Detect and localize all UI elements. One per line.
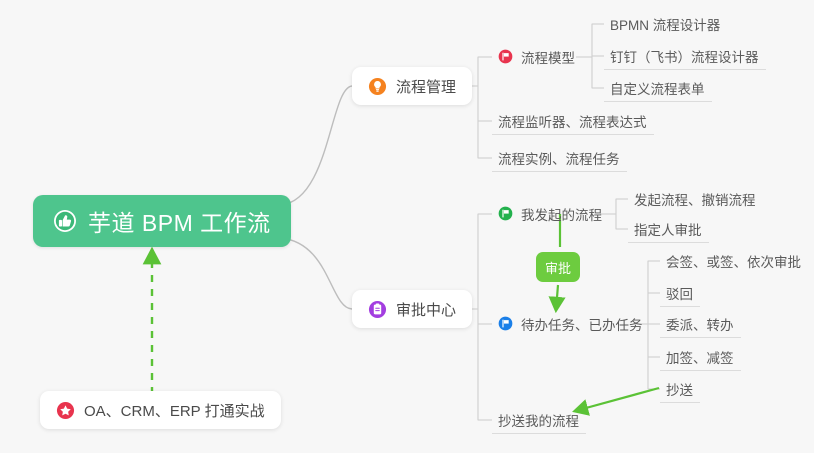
node-label-my-started-processes: 我发起的流程 [521,204,602,224]
root-label: 芋道 BPM 工作流 [88,204,271,238]
node-label-process-instance-task: 流程实例、流程任务 [498,148,620,168]
node-label-carbon-copy: 抄送 [666,379,693,399]
annotation-tag-approval[interactable]: 审批 [536,252,580,282]
node-label-bpmn-designer: BPMN 流程设计器 [610,14,720,34]
node-carbon-copy[interactable]: 抄送 [660,375,700,403]
node-label-dingtalk-feishu-designer: 钉钉（飞书）流程设计器 [610,46,759,66]
flag-icon [498,49,513,64]
node-label-process-model: 流程模型 [521,47,575,67]
node-label-add-remove-sign: 加签、减签 [666,347,734,367]
node-dingtalk-feishu-designer[interactable]: 钉钉（飞书）流程设计器 [604,42,766,70]
annotation-tag-approval-label: 审批 [545,258,571,277]
node-assignee-approval[interactable]: 指定人审批 [628,215,709,243]
branch-node-approval-center[interactable]: 审批中心 [352,290,472,328]
node-label-assignee-approval: 指定人审批 [634,219,702,239]
node-label-process-listener-expression: 流程监听器、流程表达式 [498,111,647,131]
node-label-start-cancel-process: 发起流程、撤销流程 [634,189,756,209]
footer-node-label: OA、CRM、ERP 打通实战 [84,400,265,421]
node-label-custom-process-form: 自定义流程表单 [610,78,705,98]
footer-node-oa-crm-erp[interactable]: OA、CRM、ERP 打通实战 [40,391,281,429]
node-bpmn-designer[interactable]: BPMN 流程设计器 [604,10,727,38]
thumbs-up-icon [53,209,77,233]
annotation-arrow-approval-flow-lower [556,285,558,310]
root-node[interactable]: 芋道 BPM 工作流 [33,195,291,247]
node-custom-process-form[interactable]: 自定义流程表单 [604,74,712,102]
star-icon [56,401,75,420]
node-countersign-or-sequential[interactable]: 会签、或签、依次审批 [660,247,808,275]
node-delegate-transfer[interactable]: 委派、转办 [660,310,741,338]
branch-label-process-management: 流程管理 [396,76,456,97]
node-add-remove-sign[interactable]: 加签、减签 [660,343,741,371]
branch-node-process-management[interactable]: 流程管理 [352,67,472,105]
node-label-cc-to-me-processes: 抄送我的流程 [498,410,579,430]
node-cc-to-me-processes[interactable]: 抄送我的流程 [492,406,586,434]
node-my-started-processes[interactable]: 我发起的流程 [492,200,609,228]
flag-icon [498,316,513,331]
mindmap-canvas: 芋道 BPM 工作流 流程管理 流程模型 流程监听器、流程表达式 流程实例、流程… [0,0,814,453]
node-process-model[interactable]: 流程模型 [492,43,582,71]
node-todo-done-tasks[interactable]: 待办任务、已办任务 [492,310,650,338]
node-start-cancel-process[interactable]: 发起流程、撤销流程 [628,185,763,213]
node-process-instance-task[interactable]: 流程实例、流程任务 [492,144,627,172]
flag-icon [498,206,513,221]
lightbulb-icon [368,77,387,96]
edge-root-to-approval-center [281,238,352,309]
branch-label-approval-center: 审批中心 [396,299,456,320]
node-label-delegate-transfer: 委派、转办 [666,314,734,334]
node-label-countersign-or-sequential: 会签、或签、依次审批 [666,251,801,271]
edge-root-to-process-management [281,86,352,205]
node-label-todo-done-tasks: 待办任务、已办任务 [521,314,643,334]
node-label-reject: 驳回 [666,283,693,303]
node-process-listener-expression[interactable]: 流程监听器、流程表达式 [492,107,654,135]
annotation-arrow-carbon-copy [575,388,659,411]
clipboard-icon [368,300,387,319]
node-reject[interactable]: 驳回 [660,279,700,307]
